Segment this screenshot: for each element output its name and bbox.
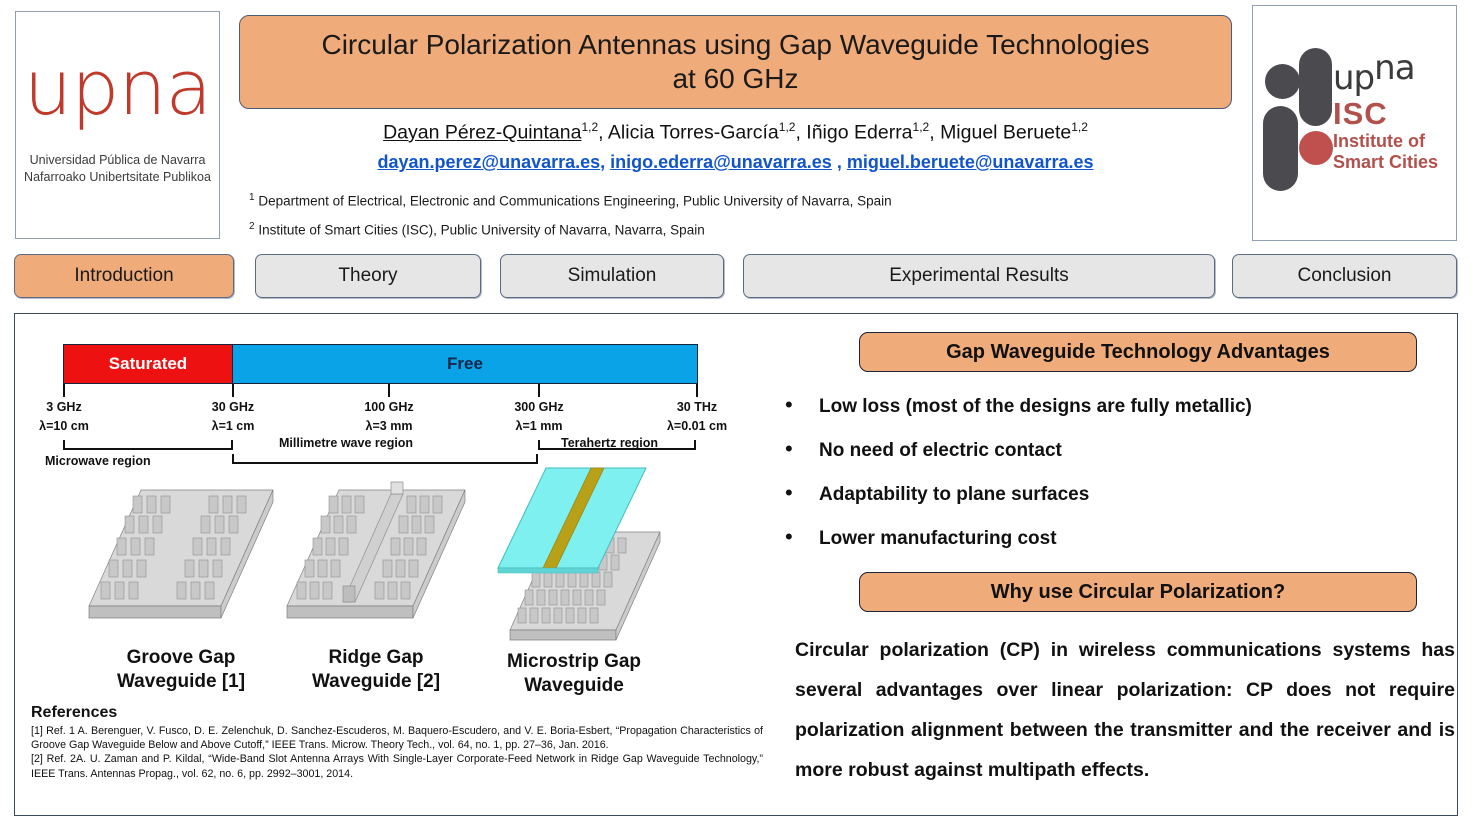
- affiliation-1-text: Department of Electrical, Electronic and…: [255, 194, 892, 209]
- waveguide-figures: Groove Gap Waveguide [1]: [33, 474, 733, 689]
- cp-heading: Why use Circular Polarization?: [859, 572, 1417, 612]
- bullet-icon: •: [785, 482, 819, 504]
- advantage-item-0-label: Low loss (most of the designs are fully …: [819, 396, 1252, 418]
- region-label-terahertz: Terahertz region: [561, 436, 658, 450]
- reference-item-0: [1] Ref. 1 A. Berenguer, V. Fusco, D. E.…: [31, 724, 763, 752]
- spectrum-lambda-0: λ=10 cm: [4, 417, 124, 436]
- spectrum-freq-0: 3 GHz: [4, 398, 124, 417]
- tab-experimental-results[interactable]: Experimental Results: [743, 254, 1215, 298]
- upna-subtitle: Universidad Pública de Navarra Nafarroak…: [16, 152, 219, 186]
- isc-wordmark-na: na: [1374, 48, 1414, 88]
- region-label-microwave: Microwave region: [45, 454, 151, 468]
- spectrum-label-1: 30 GHz λ=1 cm: [173, 398, 293, 436]
- spectrum-label-0: 3 GHz λ=10 cm: [4, 398, 124, 436]
- spectrum-label-3: 300 GHz λ=1 mm: [479, 398, 599, 436]
- advantage-item-1-label: No need of electric contact: [819, 440, 1062, 462]
- references-block: References [1] Ref. 1 A. Berenguer, V. F…: [31, 704, 763, 781]
- isc-institute-name: Institute of Smart Cities: [1333, 131, 1438, 172]
- spectrum-diagram: Saturated Free 3 GHz λ=10 cm 30 GHz λ=1 …: [33, 326, 723, 476]
- spectrum-free-band: Free: [233, 344, 698, 384]
- main-content-panel: Saturated Free 3 GHz λ=10 cm 30 GHz λ=1 …: [14, 313, 1458, 816]
- isc-upna-wordmark: upna: [1333, 48, 1415, 98]
- isc-name-line2: Smart Cities: [1333, 152, 1438, 172]
- upna-subtitle-line2: Nafarroako Unibertsitate Publikoa: [16, 169, 219, 186]
- spectrum-tick-4: [696, 384, 698, 397]
- isc-wordmark-up: up: [1333, 58, 1374, 98]
- spectrum-saturated-band: Saturated: [63, 344, 233, 384]
- affiliation-2-text: Institute of Smart Cities (ISC), Public …: [255, 223, 705, 238]
- region-bracket-microwave: [63, 440, 233, 450]
- spectrum-lambda-4: λ=0.01 cm: [637, 417, 757, 436]
- figure-caption-0: Groove Gap Waveguide [1]: [81, 646, 281, 694]
- isc-logo: upna ISC Institute of Smart Cities: [1252, 5, 1457, 241]
- isc-dot-shape: [1265, 64, 1300, 99]
- author-affil-2: 1,2: [913, 120, 930, 134]
- spectrum-label-2: 100 GHz λ=3 mm: [329, 398, 449, 436]
- isc-name-line1: Institute of: [1333, 131, 1425, 151]
- poster-header: upna Universidad Pública de Navarra Nafa…: [0, 0, 1472, 248]
- poster-title-plate: Circular Polarization Antennas using Gap…: [239, 15, 1232, 109]
- bullet-icon: •: [785, 438, 819, 460]
- tab-conclusion[interactable]: Conclusion: [1232, 254, 1457, 298]
- isc-pill-shape-top: [1299, 48, 1332, 126]
- figure-caption-1-line1: Ridge Gap: [276, 646, 476, 670]
- page-title-line2: at 60 GHz: [672, 63, 798, 94]
- right-column: Gap Waveguide Technology Advantages • Lo…: [775, 324, 1445, 814]
- spectrum-freq-2: 100 GHz: [329, 398, 449, 417]
- affiliation-1: 1 Department of Electrical, Electronic a…: [249, 192, 1249, 209]
- spectrum-label-4: 30 THz λ=0.01 cm: [637, 398, 757, 436]
- spectrum-freq-1: 30 GHz: [173, 398, 293, 417]
- spectrum-tick-2: [388, 384, 390, 397]
- author-emails: dayan.perez@unavarra.es, inigo.ederra@un…: [239, 152, 1232, 173]
- tab-theory[interactable]: Theory: [255, 254, 481, 298]
- groove-gap-waveguide-image: [81, 474, 281, 642]
- author-name-2: Iñigo Ederra: [806, 122, 912, 144]
- figure-caption-1-line2: Waveguide [2]: [276, 670, 476, 694]
- upna-logo: upna Universidad Pública de Navarra Nafa…: [15, 11, 220, 239]
- spectrum-lambda-1: λ=1 cm: [173, 417, 293, 436]
- affiliation-2: 2 Institute of Smart Cities (ISC), Publi…: [249, 221, 1249, 238]
- cp-paragraph: Circular polarization (CP) in wireless c…: [795, 631, 1455, 791]
- spectrum-lambda-2: λ=3 mm: [329, 417, 449, 436]
- upna-subtitle-line1: Universidad Pública de Navarra: [16, 152, 219, 169]
- microstrip-gap-waveguide-image: [488, 460, 673, 650]
- email-link-2[interactable]: miguel.beruete@unavarra.es: [847, 152, 1094, 172]
- spectrum-freq-3: 300 GHz: [479, 398, 599, 417]
- author-name-0: Dayan Pérez-Quintana: [383, 122, 581, 144]
- figure-caption-0-line2: Waveguide [1]: [81, 670, 281, 694]
- bullet-icon: •: [785, 526, 819, 548]
- figure-caption-2-line1: Microstrip Gap: [474, 650, 674, 674]
- isc-acronym: ISC: [1333, 96, 1388, 132]
- bullet-icon: •: [785, 394, 819, 416]
- advantage-item-0: • Low loss (most of the designs are full…: [785, 394, 1435, 418]
- advantage-item-3: • Lower manufacturing cost: [785, 526, 1435, 550]
- advantage-item-2: • Adaptability to plane surfaces: [785, 482, 1435, 506]
- isc-pill-shape-bottom: [1263, 106, 1298, 191]
- author-list: Dayan Pérez-Quintana1,2, Alicia Torres-G…: [239, 120, 1232, 145]
- author-affil-1: 1,2: [779, 120, 796, 134]
- author-affil-0: 1,2: [581, 120, 598, 134]
- email-link-0[interactable]: dayan.perez@unavarra.es: [377, 152, 600, 172]
- tab-simulation[interactable]: Simulation: [500, 254, 724, 298]
- figure-caption-0-line1: Groove Gap: [81, 646, 281, 670]
- poster-root: upna Universidad Pública de Navarra Nafa…: [0, 0, 1472, 829]
- region-label-millimetre: Millimetre wave region: [279, 436, 413, 450]
- author-affil-3: 1,2: [1071, 120, 1088, 134]
- advantages-heading: Gap Waveguide Technology Advantages: [859, 332, 1417, 372]
- advantage-item-3-label: Lower manufacturing cost: [819, 528, 1057, 550]
- ridge-gap-waveguide-image: [281, 474, 471, 642]
- tab-introduction[interactable]: Introduction: [14, 254, 234, 298]
- page-title: Circular Polarization Antennas using Gap…: [305, 28, 1165, 96]
- author-name-3: Miguel Beruete: [940, 122, 1071, 144]
- spectrum-tick-1: [232, 384, 234, 397]
- advantage-item-1: • No need of electric contact: [785, 438, 1435, 462]
- author-name-1: Alicia Torres-García: [608, 122, 779, 144]
- references-title: References: [31, 704, 763, 722]
- page-title-line1: Circular Polarization Antennas using Gap…: [321, 29, 1149, 60]
- spectrum-tick-0: [63, 384, 65, 397]
- spectrum-freq-4: 30 THz: [637, 398, 757, 417]
- advantage-item-2-label: Adaptability to plane surfaces: [819, 484, 1089, 506]
- section-tab-bar: Introduction Theory Simulation Experimen…: [0, 254, 1472, 300]
- email-link-1[interactable]: inigo.ederra@unavarra.es: [610, 152, 832, 172]
- upna-wordmark: upna: [16, 50, 219, 126]
- spectrum-lambda-3: λ=1 mm: [479, 417, 599, 436]
- figure-caption-1: Ridge Gap Waveguide [2]: [276, 646, 476, 694]
- spectrum-tick-3: [538, 384, 540, 397]
- isc-red-dot-shape: [1299, 131, 1333, 165]
- figure-caption-2: Microstrip Gap Waveguide: [474, 650, 674, 698]
- figure-caption-2-line2: Waveguide: [474, 674, 674, 698]
- reference-item-1: [2] Ref. 2A. U. Zaman and P. Kildal, “Wi…: [31, 752, 763, 780]
